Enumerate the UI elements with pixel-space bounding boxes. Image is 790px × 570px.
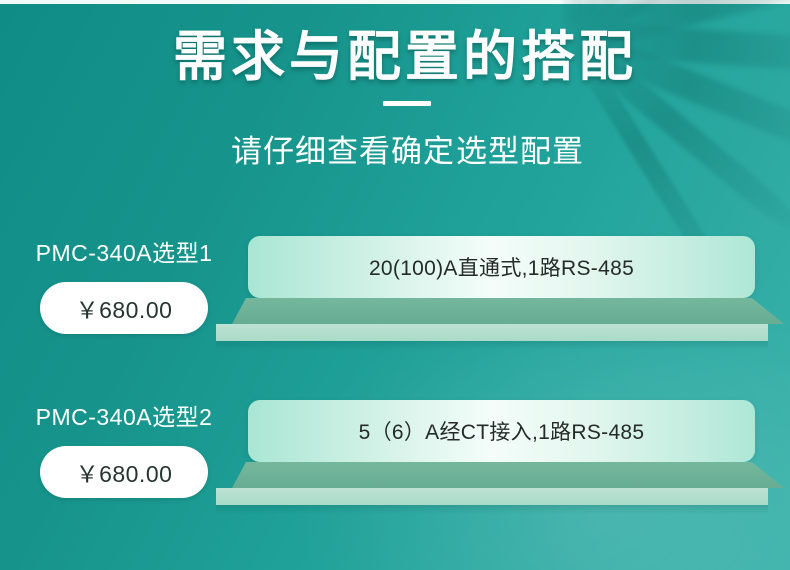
shelf-base <box>216 488 768 505</box>
model-name: PMC-340A选型1 <box>0 228 248 268</box>
model-name: PMC-340A选型2 <box>0 392 248 432</box>
product-row: PMC-340A选型2 ￥680.00 5（6）A经CT接入,1路RS-485 <box>0 392 790 527</box>
product-row: PMC-340A选型1 ￥680.00 20(100)A直通式,1路RS-485 <box>0 228 790 363</box>
shelf-base <box>216 324 768 341</box>
header: 需求与配置的搭配 请仔细查看确定选型配置 <box>0 0 790 171</box>
promo-poster: 需求与配置的搭配 请仔细查看确定选型配置 PMC-340A选型1 ￥680.00… <box>0 0 790 570</box>
page-title: 需求与配置的搭配 <box>0 28 790 87</box>
shelf-slab <box>232 298 784 324</box>
product-row-left: PMC-340A选型1 ￥680.00 <box>0 228 248 334</box>
spec-text: 20(100)A直通式,1路RS-485 <box>369 252 634 282</box>
price-badge: ￥680.00 <box>40 282 208 334</box>
spec-shelf: 20(100)A直通式,1路RS-485 <box>248 228 790 363</box>
shelf-slab <box>232 462 784 488</box>
spec-card: 5（6）A经CT接入,1路RS-485 <box>248 400 755 462</box>
subtitle-highlighted-text: 选型配置 <box>455 126 585 171</box>
spec-shelf: 5（6）A经CT接入,1路RS-485 <box>248 392 790 527</box>
shelf-shadow <box>216 341 768 350</box>
price-badge: ￥680.00 <box>40 446 208 498</box>
spec-text: 5（6）A经CT接入,1路RS-485 <box>359 416 645 446</box>
shelf-shadow <box>216 505 768 514</box>
page-subtitle: 请仔细查看确定选型配置 <box>0 126 790 171</box>
title-divider <box>383 101 431 106</box>
product-row-left: PMC-340A选型2 ￥680.00 <box>0 392 248 498</box>
subtitle-plain-text: 请仔细查看确定 <box>231 134 455 169</box>
spec-card: 20(100)A直通式,1路RS-485 <box>248 236 755 298</box>
